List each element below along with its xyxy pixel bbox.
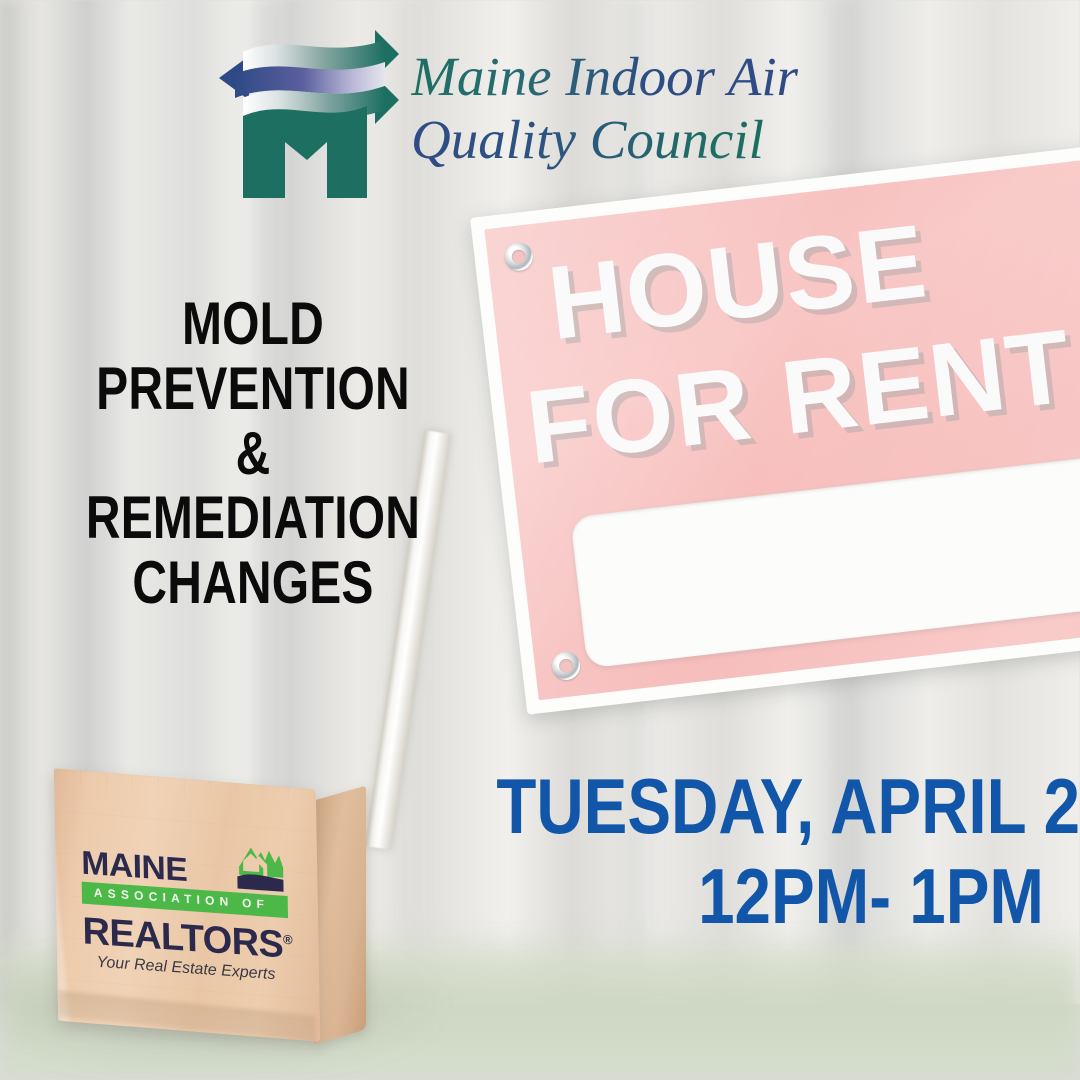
headline-line-1: MOLD (65, 292, 441, 357)
event-date: TUESDAY, APRIL 28TH (496, 762, 1044, 852)
organization-name-line2: Quality Council (411, 109, 798, 172)
event-datetime: TUESDAY, APRIL 28TH 12PM- 1PM (496, 762, 1044, 941)
event-time: 12PM- 1PM (496, 852, 1044, 942)
headline-line-4: CHANGES (65, 551, 441, 616)
sponsor-logo: MAINE ASSOCIATION OF REALTORS® Your Real… (81, 846, 293, 973)
yard-sign-board: HOUSE FOR RENT (470, 131, 1080, 715)
organization-logo: Maine Indoor Air Quality Council (215, 26, 795, 206)
sponsor-brand-line1: MAINE (81, 846, 187, 887)
headline-line-2: PREVENTION (65, 357, 441, 422)
headline-line-3: & REMEDIATION (65, 422, 441, 552)
organization-name-line1: Maine Indoor Air (411, 46, 798, 109)
organization-name: Maine Indoor Air Quality Council (411, 46, 798, 171)
event-flyer: HOUSE FOR RENT (0, 0, 1080, 1080)
registered-trademark-icon: ® (283, 932, 293, 948)
yard-sign-face: HOUSE FOR RENT (484, 144, 1080, 701)
miaqc-m-wave-logo-icon (215, 26, 400, 206)
yard-sign: HOUSE FOR RENT (470, 131, 1080, 755)
house-pine-trees-icon (221, 843, 288, 896)
paper-bag-gusset (314, 786, 366, 1045)
page-title: MOLD PREVENTION & REMEDIATION CHANGES (65, 292, 441, 616)
sponsor-paper-bag: MAINE ASSOCIATION OF REALTORS® Your Real… (38, 757, 388, 1047)
